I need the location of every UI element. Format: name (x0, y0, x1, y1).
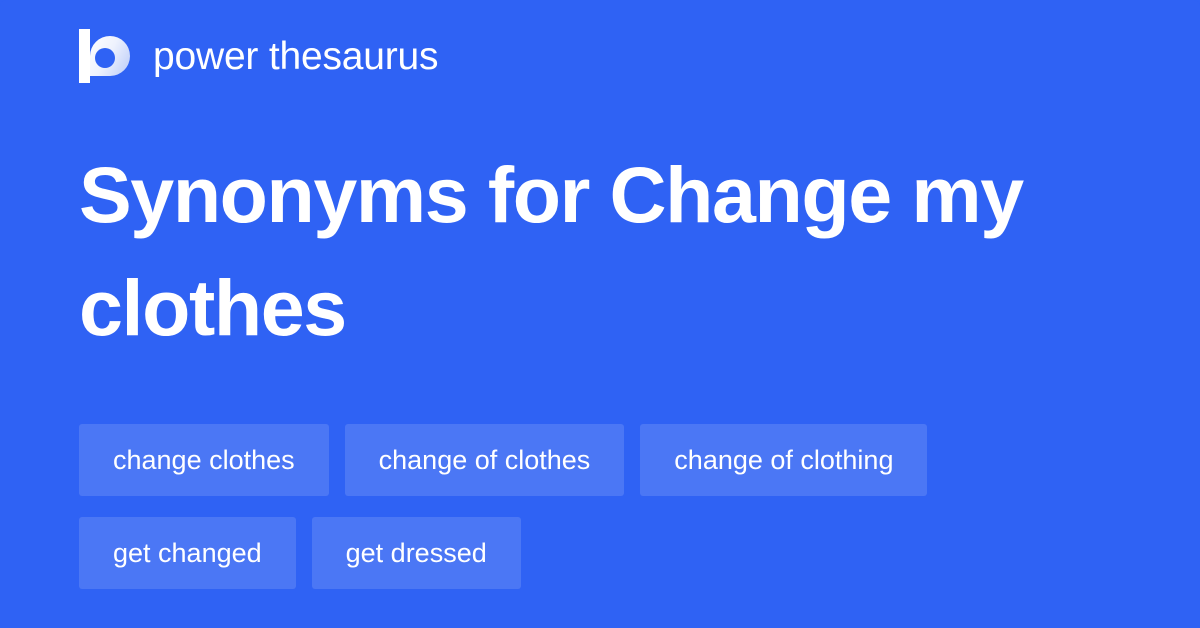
synonym-chip[interactable]: change clothes (79, 424, 329, 496)
brand-name: power thesaurus (153, 37, 438, 76)
synonym-chip[interactable]: get dressed (312, 517, 521, 589)
power-thesaurus-share-card: power thesaurus Synonyms for Change my c… (0, 0, 1200, 628)
synonym-chip-list: change clothes change of clothes change … (79, 424, 1127, 589)
power-thesaurus-b-monogram-icon (79, 29, 131, 83)
synonym-chip[interactable]: get changed (79, 517, 296, 589)
synonym-chip[interactable]: change of clothing (640, 424, 927, 496)
brand-header[interactable]: power thesaurus (79, 29, 438, 83)
page-title: Synonyms for Change my clothes (79, 138, 1129, 364)
synonym-chip[interactable]: change of clothes (345, 424, 625, 496)
